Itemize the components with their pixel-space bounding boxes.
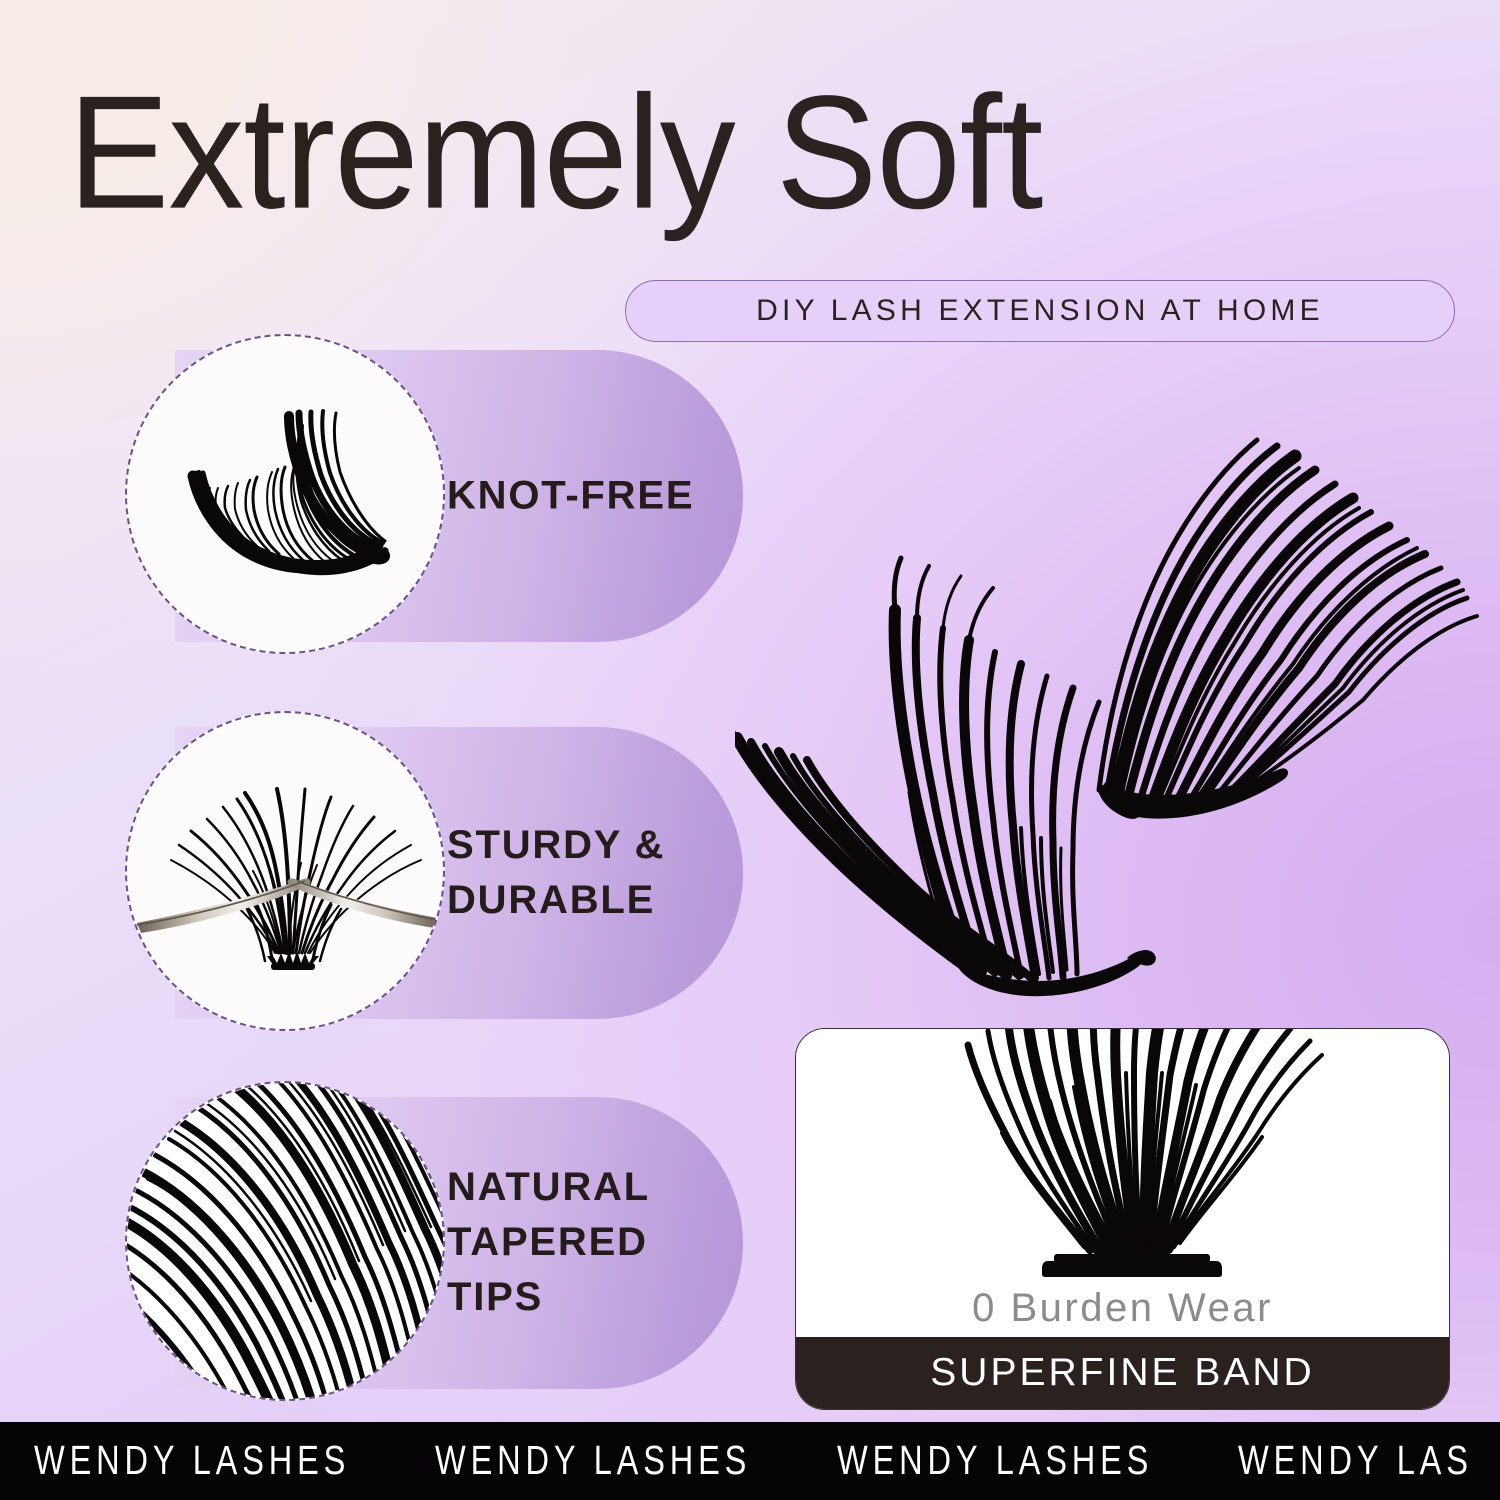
page-title: Extremely Soft xyxy=(68,72,1042,233)
card-bottom-bar: SUPERFINE BAND xyxy=(796,1337,1449,1409)
card-caption-text: 0 Burden Wear xyxy=(972,1286,1273,1331)
product-infographic: Extremely Soft DIY LASH EXTENSION AT HOM… xyxy=(0,0,1500,1500)
tapered-lash-fibers-macro-icon xyxy=(125,1081,445,1401)
watermark-text: WENDY LASHES xyxy=(435,1438,751,1484)
watermark-text: WENDY LASHES xyxy=(837,1438,1153,1484)
hero-lash-clusters-icon xyxy=(735,350,1480,1010)
lash-cluster-superfine-band-icon xyxy=(796,1029,1449,1277)
feature-row-natural-tapered-tips: NATURAL TAPERED TIPS xyxy=(125,1097,743,1389)
feature-row-sturdy-durable: STURDY & DURABLE xyxy=(125,727,743,1019)
brand-watermark-strip: WENDY LASHES WENDY LASHES WENDY LASHES W… xyxy=(0,1422,1500,1500)
lash-cluster-knot-free-icon xyxy=(125,334,445,654)
feature-label: NATURAL TAPERED TIPS xyxy=(447,1160,743,1326)
subtitle-pill: DIY LASH EXTENSION AT HOME xyxy=(625,280,1455,342)
feature-row-knot-free: KNOT-FREE xyxy=(125,350,743,642)
card-caption: 0 Burden Wear xyxy=(796,1277,1449,1339)
superfine-band-card: 0 Burden Wear SUPERFINE BAND xyxy=(795,1028,1450,1410)
subtitle-text: DIY LASH EXTENSION AT HOME xyxy=(756,294,1324,328)
card-bar-label: SUPERFINE BAND xyxy=(930,1351,1314,1395)
watermark-text: WENDY LASHES xyxy=(34,1438,350,1484)
feature-label: STURDY & DURABLE xyxy=(447,818,665,928)
watermark-text: WENDY LAS xyxy=(1238,1438,1473,1484)
feature-label: KNOT-FREE xyxy=(447,468,694,523)
tweezers-holding-lash-icon xyxy=(125,711,445,1031)
